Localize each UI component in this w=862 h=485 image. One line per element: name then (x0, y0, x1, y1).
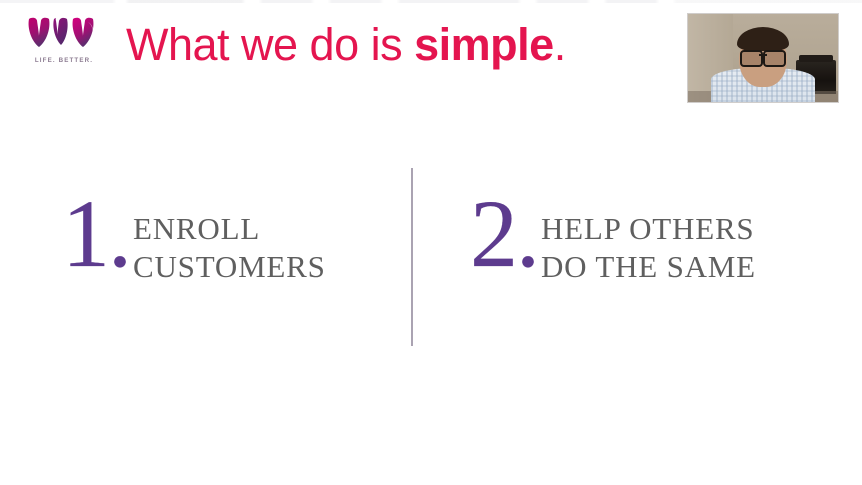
step-number-1: 1. (62, 188, 130, 280)
step-label-1-line2: CUSTOMERS (133, 249, 326, 284)
step-label-2-line1: HELP OTHERS (541, 211, 754, 246)
viv-logo-icon (26, 16, 102, 56)
step-label-1-line1: ENROLL (133, 211, 260, 246)
step-label-1: ENROLLCUSTOMERS (133, 210, 326, 286)
glasses-lens-right (763, 50, 786, 67)
slide-title-lead: What we do is (126, 19, 414, 70)
glasses-lens-left (740, 50, 763, 67)
presenter-glasses-icon (740, 50, 786, 63)
slide-title-trailing: . (554, 19, 566, 70)
slide-title-emphasis: simple (414, 19, 554, 70)
brand-tagline: LIFE. BETTER. (18, 57, 110, 64)
slide-title: What we do is simple. (126, 20, 566, 70)
step-item-2: 2. HELP OTHERSDO THE SAME (470, 196, 756, 286)
presenter-video-thumbnail[interactable] (688, 14, 838, 102)
steps-divider (411, 168, 413, 346)
steps-section: 1. ENROLLCUSTOMERS 2. HELP OTHERSDO THE … (0, 168, 862, 346)
step-label-2-line2: DO THE SAME (541, 249, 756, 284)
step-item-1: 1. ENROLLCUSTOMERS (62, 196, 326, 286)
window-top-edge (0, 0, 862, 3)
brand-logo: LIFE. BETTER. (18, 16, 110, 76)
step-label-2: HELP OTHERSDO THE SAME (541, 210, 756, 286)
step-number-2: 2. (470, 188, 538, 280)
presentation-slide: LIFE. BETTER. What we do is simple. 1. E… (0, 0, 862, 485)
